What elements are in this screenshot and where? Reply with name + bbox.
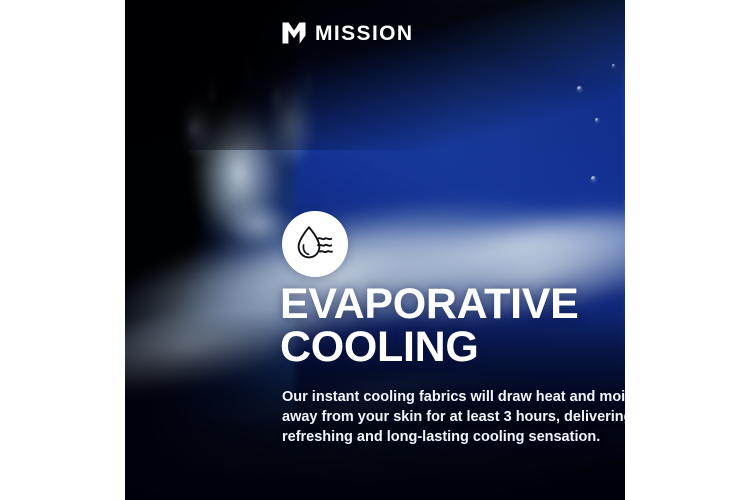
water-droplet-icon (591, 176, 596, 181)
body-copy: Our instant cooling fabrics will draw he… (282, 387, 625, 447)
water-droplet-icon (595, 118, 599, 122)
body-copy-line-3: refreshing and long-lasting cooling sens… (282, 427, 625, 447)
evaporative-cooling-banner: MISSION EVAPORATIVE COOLING Our instant … (125, 0, 625, 500)
headline: EVAPORATIVE COOLING (280, 283, 579, 368)
water-droplet-evaporation-icon (294, 224, 336, 264)
water-droplet-icon (612, 64, 615, 67)
brand-logo: MISSION (282, 22, 413, 44)
mission-m-mark-icon (282, 22, 306, 44)
feature-icon-badge (282, 211, 348, 277)
brand-wordmark: MISSION (315, 23, 413, 44)
body-copy-line-1: Our instant cooling fabrics will draw he… (282, 387, 625, 407)
headline-line-1: EVAPORATIVE (280, 283, 579, 326)
page-canvas: MISSION EVAPORATIVE COOLING Our instant … (0, 0, 750, 500)
headline-line-2: COOLING (280, 326, 579, 369)
body-copy-line-2: away from your skin for at least 3 hours… (282, 407, 625, 427)
water-droplet-icon (577, 86, 582, 91)
